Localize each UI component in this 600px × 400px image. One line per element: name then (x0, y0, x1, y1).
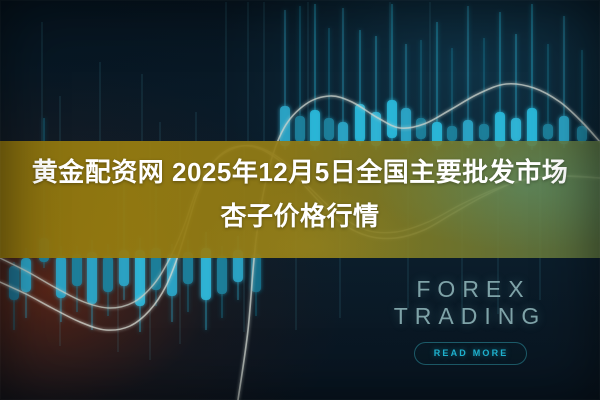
read-more-button[interactable]: READ MORE (414, 342, 527, 365)
brand-block: FOREX TRADING READ MORE (360, 276, 580, 365)
headline-line-1: 黄金配资网 2025年12月5日全国主要批发市场 (18, 150, 582, 194)
brand-title: FOREX TRADING (360, 276, 580, 330)
banner-image: 黄金配资网 2025年12月5日全国主要批发市场 杏子价格行情 FOREX TR… (0, 0, 600, 400)
page-title: 黄金配资网 2025年12月5日全国主要批发市场 杏子价格行情 (0, 150, 600, 238)
headline-line-2: 杏子价格行情 (18, 194, 582, 238)
